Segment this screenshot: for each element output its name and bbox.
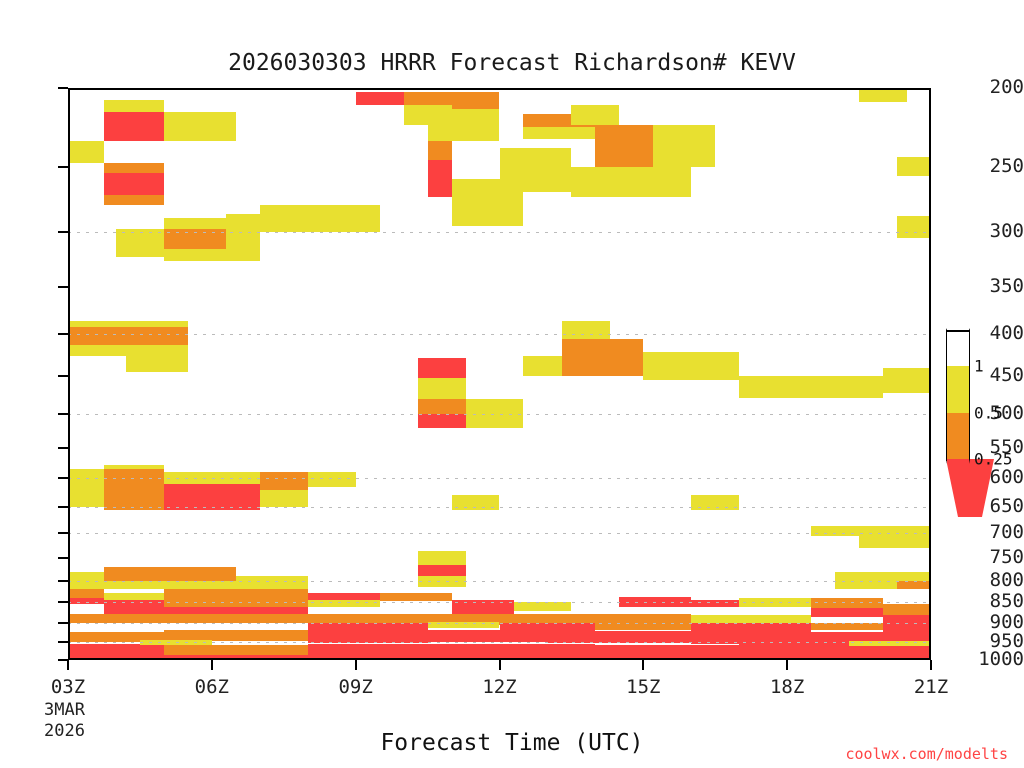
heatmap-cell (126, 345, 188, 372)
x-tick-21Z (930, 660, 932, 670)
x-tick-18Z (786, 660, 788, 670)
y-tick-750 (58, 557, 68, 559)
y-tick-label-350: 350 (972, 277, 1024, 296)
y-tick-900 (58, 622, 68, 624)
y-tick-550 (58, 447, 68, 449)
heatmap-cell (68, 327, 188, 345)
heatmap-cell (104, 567, 236, 581)
heatmap-cell (68, 614, 308, 623)
heatmap-cell (356, 92, 404, 106)
y-tick-200 (58, 87, 68, 89)
heatmap-cell (428, 120, 452, 140)
heatmap-cell (428, 160, 452, 197)
gridline-400 (68, 334, 931, 335)
y-tick-600 (58, 477, 68, 479)
gridline-800 (68, 581, 931, 582)
heatmap-cell (571, 105, 619, 125)
y-tick-label-900: 900 (972, 613, 1024, 632)
y-tick-label-200: 200 (972, 78, 1024, 97)
heatmap-cell (691, 623, 811, 633)
heatmap-cell (308, 644, 452, 655)
heatmap-cell (68, 655, 931, 659)
heatmap-cell (811, 598, 883, 608)
y-tick-700 (58, 532, 68, 534)
heatmap-cell (164, 112, 236, 141)
gridline-650 (68, 507, 931, 508)
heatmap-cell (739, 376, 883, 397)
heatmap-cell (523, 127, 595, 140)
heatmap-cell (691, 615, 811, 623)
heatmap-cell (643, 352, 739, 380)
gridline-600 (68, 478, 931, 479)
heatmap-cell (226, 214, 260, 261)
y-tick-label-700: 700 (972, 523, 1024, 542)
x-tick-06Z (211, 660, 213, 670)
y-tick-350 (58, 286, 68, 288)
y-tick-label-300: 300 (972, 222, 1024, 241)
y-tick-label-800: 800 (972, 571, 1024, 590)
heatmap-cell (883, 368, 931, 393)
heatmap-cell (418, 565, 466, 576)
heatmap-cell (835, 581, 897, 589)
heatmap-cell (164, 484, 260, 509)
y-tick-400 (58, 333, 68, 335)
heatmap-cell (418, 358, 466, 377)
heatmap-cell (452, 97, 500, 109)
heatmap-cell (308, 623, 428, 633)
colorbar-segment-0[interactable] (946, 330, 970, 366)
heatmap-cell (104, 195, 164, 205)
gridline-700 (68, 533, 931, 534)
heatmap-cell (260, 472, 308, 490)
heatmap-cell (428, 141, 452, 160)
heatmap-cell (68, 581, 236, 589)
heatmap-cell (562, 321, 610, 339)
heatmap-cell (523, 356, 561, 376)
heatmap-cell (859, 88, 907, 102)
heatmap-cell (68, 598, 104, 604)
heatmap-cell (104, 593, 164, 600)
heatmap-cell (428, 630, 548, 641)
watermark: coolwx.com/modelts (845, 745, 1008, 763)
heatmap-cell (104, 100, 164, 112)
y-tick-800 (58, 580, 68, 582)
heatmap-cell (883, 604, 931, 614)
heatmap-cell (811, 608, 883, 616)
x-tick-09Z (355, 660, 357, 670)
heatmap-cell (883, 615, 931, 627)
heatmap-cell (164, 589, 308, 608)
y-tick-300 (58, 231, 68, 233)
heatmap-cell (452, 109, 500, 141)
heatmap-cell (691, 600, 739, 607)
x-tick-label-03Z: 03Z (51, 676, 85, 698)
heatmap-cell (418, 576, 466, 587)
heatmap-cell (562, 339, 644, 376)
y-tick-950 (58, 641, 68, 643)
heatmap-cell (897, 216, 931, 238)
colorbar-label-0.5: 0.5 (974, 404, 1003, 423)
heatmap-cell (164, 249, 236, 260)
heatmap-cell (104, 469, 164, 509)
gridline-950 (68, 642, 931, 643)
colorbar-label-0.25: 0.25 (974, 450, 1013, 469)
heatmap-cell (104, 112, 164, 141)
heatmap-cell (164, 645, 308, 655)
heatmap-cell (811, 623, 883, 630)
x-tick-03Z (67, 660, 69, 670)
heatmap-cell (236, 576, 308, 588)
heatmap-cell (380, 593, 452, 601)
heatmap-cell (835, 572, 931, 581)
heatmap-cell (308, 600, 380, 607)
gridline-850 (68, 602, 931, 603)
y-tick-label-750: 750 (972, 548, 1024, 567)
heatmap-cell (68, 589, 104, 598)
colorbar-divider (946, 330, 970, 332)
colorbar-segment-1[interactable] (946, 366, 970, 413)
heatmap-cell (418, 551, 466, 565)
x-tick-label-09Z: 09Z (338, 676, 372, 698)
colorbar-segment-2[interactable] (946, 413, 970, 459)
colorbar-label-1: 1 (974, 357, 984, 376)
x-tick-label-18Z: 18Z (770, 676, 804, 698)
heatmap-cell (514, 602, 572, 611)
heatmap-cell (500, 148, 572, 192)
y-tick-850 (58, 601, 68, 603)
chart-title: 2026030303 HRRR Forecast Richardson# KEV… (0, 50, 1024, 76)
x-tick-15Z (642, 660, 644, 670)
heatmap-cell (418, 378, 466, 399)
heatmap-cell (68, 469, 104, 506)
heatmap-cell (104, 163, 164, 173)
y-tick-label-1000: 1000 (972, 650, 1024, 669)
x-tick-label-06Z: 06Z (195, 676, 229, 698)
heatmap-cell (260, 205, 380, 232)
y-tick-450 (58, 375, 68, 377)
y-tick-label-250: 250 (972, 157, 1024, 176)
heatmap-plot-area (68, 88, 931, 660)
heatmap-cell (68, 141, 104, 163)
heatmap-cell (418, 399, 466, 414)
heatmap-cell (653, 125, 715, 167)
chart-root: 2026030303 HRRR Forecast Richardson# KEV… (0, 0, 1024, 768)
heatmap-cell (260, 490, 308, 507)
y-tick-250 (58, 166, 68, 168)
x-tick-12Z (499, 660, 501, 670)
heatmap-cell (571, 167, 691, 197)
heatmap-cell (595, 125, 653, 167)
heatmap-cell (104, 465, 164, 469)
heatmap-cell (104, 173, 164, 195)
heatmap-cell (897, 581, 931, 589)
y-tick-500 (58, 413, 68, 415)
x-tick-label-21Z: 21Z (914, 676, 948, 698)
heatmap-cell (308, 472, 356, 487)
y-tick-650 (58, 506, 68, 508)
gridline-900 (68, 623, 931, 624)
x-tick-label-15Z: 15Z (626, 676, 660, 698)
heatmap-cell (68, 345, 126, 356)
heatmap-cell (859, 536, 931, 548)
gridline-500 (68, 414, 931, 415)
gridline-300 (68, 232, 931, 233)
heatmap-cell (308, 593, 380, 600)
heatmap-cell (418, 414, 466, 428)
heatmap-cell (897, 157, 931, 176)
x-tick-label-12Z: 12Z (482, 676, 516, 698)
heatmap-cell (595, 645, 739, 655)
heatmap-cell (452, 644, 596, 655)
y-tick-label-850: 850 (972, 592, 1024, 611)
